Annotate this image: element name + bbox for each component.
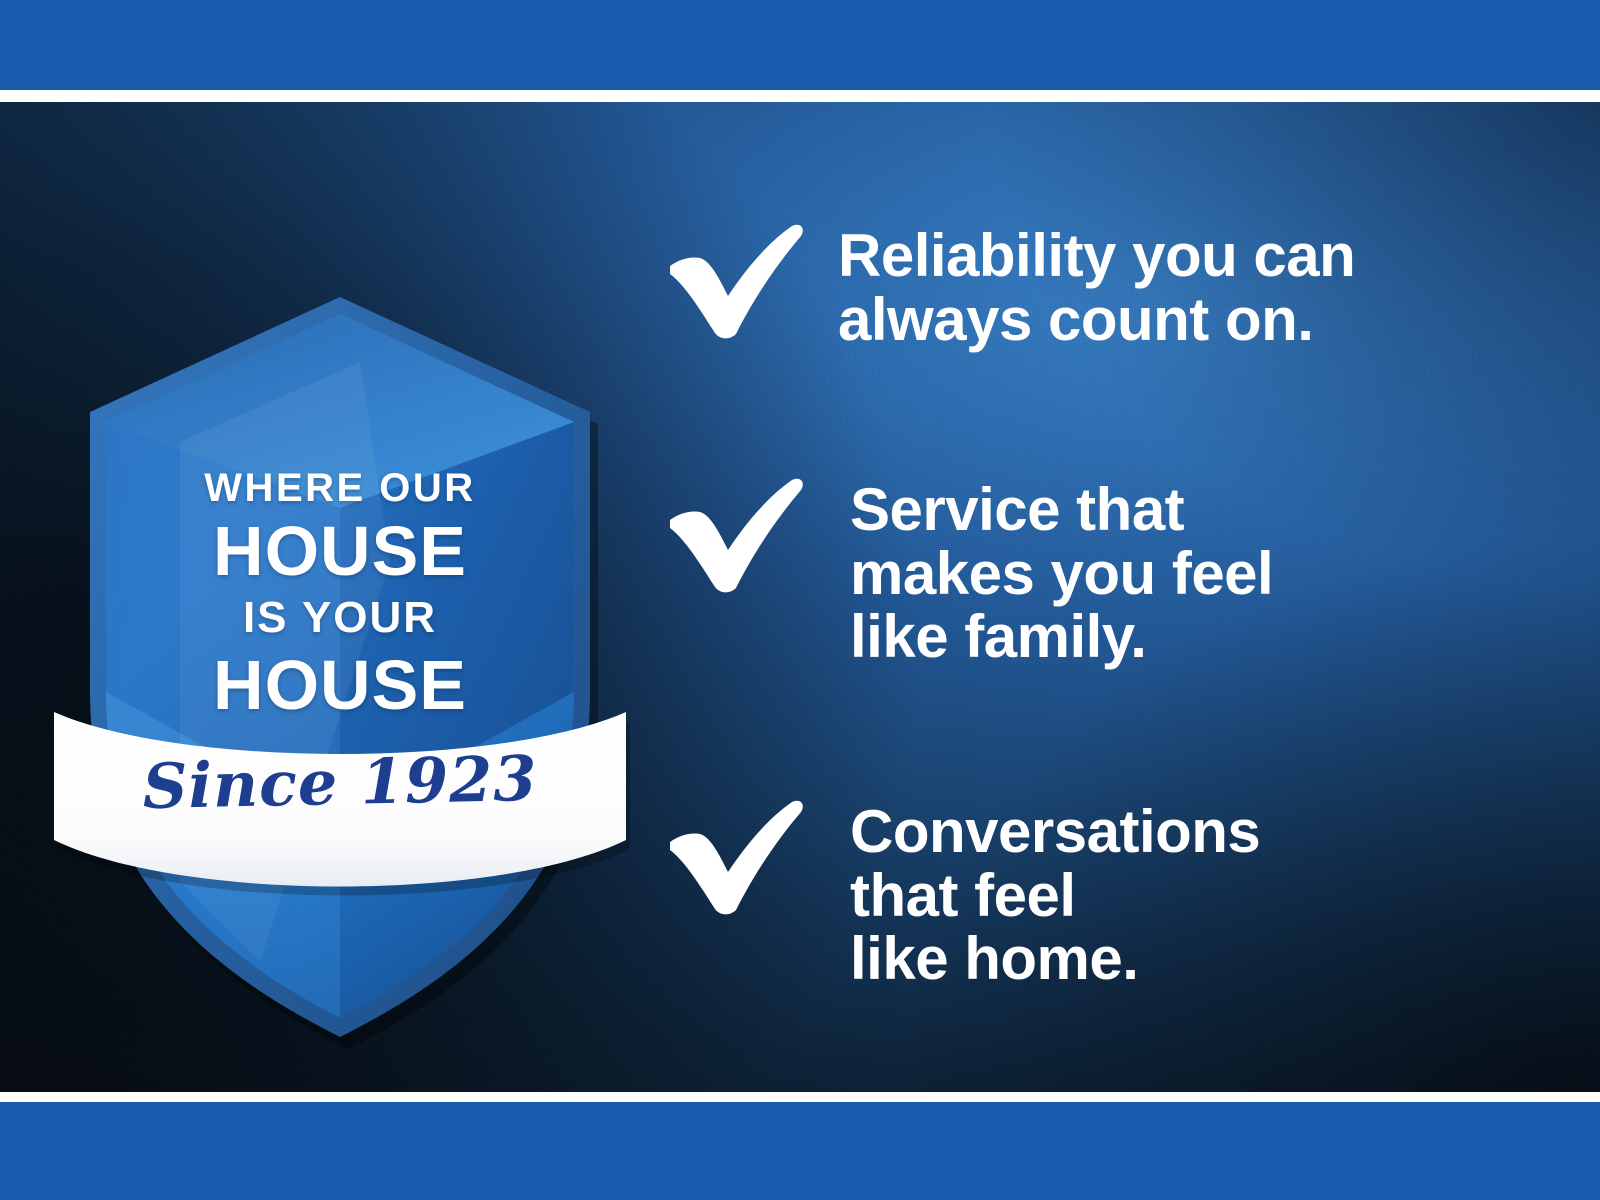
shield-line-1: WHERE OUR: [60, 468, 620, 508]
list-item: Conversations that feel like home.: [660, 796, 1540, 991]
list-item: Service that makes you feel like family.: [660, 474, 1540, 669]
checkmark-icon: [660, 474, 810, 594]
list-item-text: Conversations that feel like home.: [850, 796, 1540, 991]
list-item: Reliability you can always count on.: [660, 220, 1540, 351]
list-item-text: Service that makes you feel like family.: [850, 474, 1540, 669]
shield-line-4: HOUSE: [60, 650, 620, 720]
since-ribbon-text: Since 1923: [59, 746, 620, 820]
main-stage: WHERE OUR HOUSE IS YOUR HOUSE Since 1923…: [0, 102, 1600, 1092]
checkmark-icon: [660, 796, 810, 916]
shield-line-3: IS YOUR: [60, 596, 620, 640]
trust-shield-badge: WHERE OUR HOUSE IS YOUR HOUSE Since 1923: [60, 262, 620, 1052]
bottom-brand-bar: [0, 1102, 1600, 1200]
checkmark-icon: [660, 220, 810, 340]
promo-graphic: WHERE OUR HOUSE IS YOUR HOUSE Since 1923…: [0, 0, 1600, 1200]
shield-line-2: HOUSE: [60, 516, 620, 586]
top-brand-bar: [0, 0, 1600, 90]
list-item-text: Reliability you can always count on.: [838, 220, 1540, 351]
